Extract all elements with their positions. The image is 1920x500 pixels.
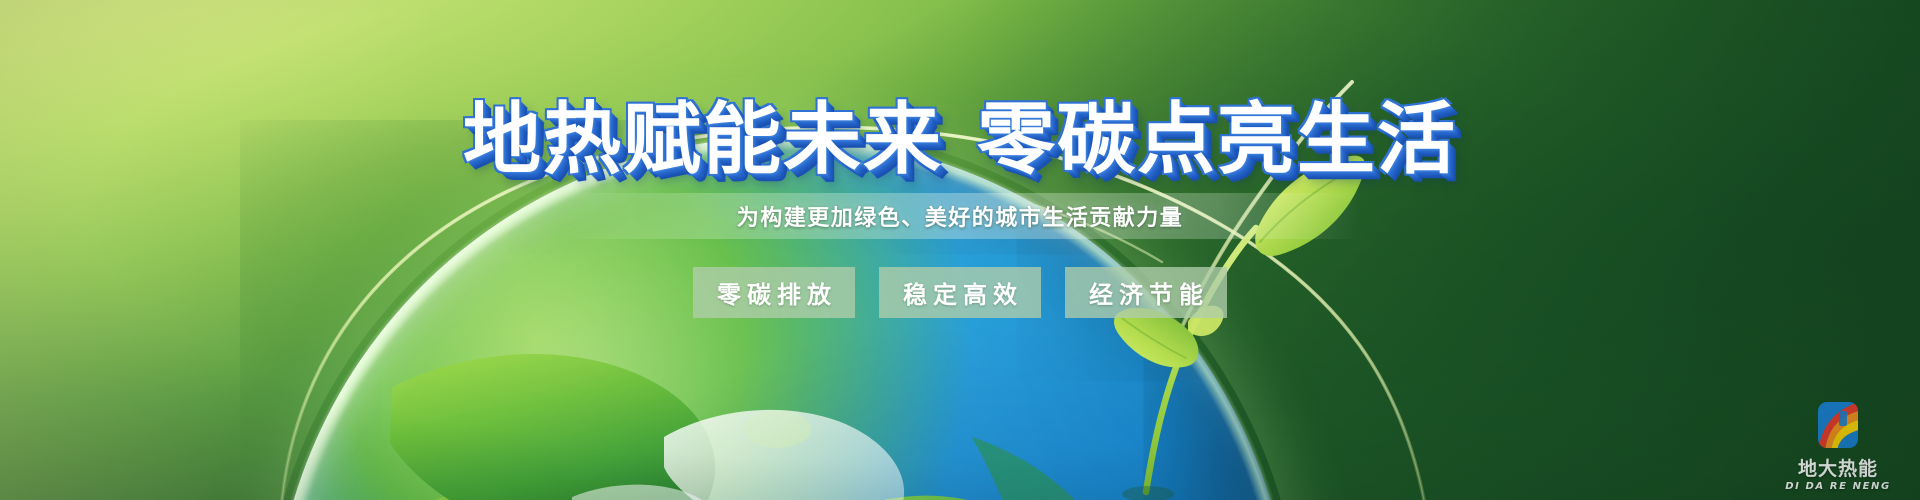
background-vignette <box>0 0 1920 500</box>
promo-banner: 地热赋能未来零碳点亮生活 为构建更加绿色、美好的城市生活贡献力量 零碳排放 稳定… <box>0 0 1920 500</box>
